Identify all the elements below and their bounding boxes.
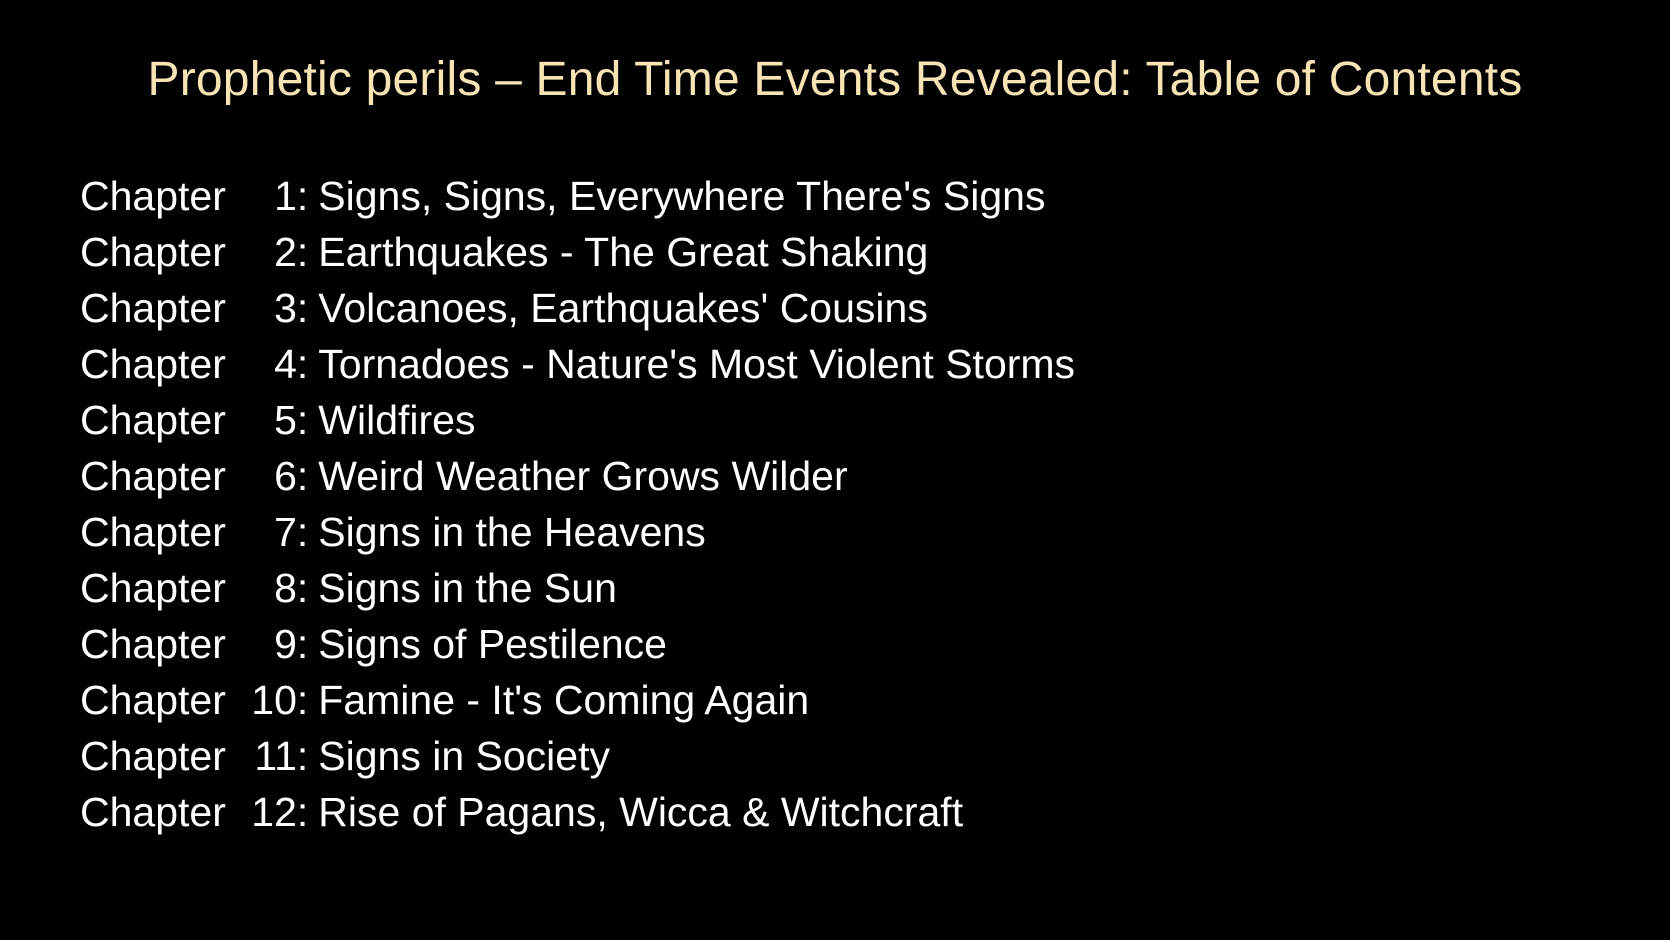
chapter-separator: : [297,504,308,560]
chapter-title: Signs in the Heavens [318,504,705,560]
chapter-number: 8 [235,560,297,616]
chapter-separator: : [297,728,308,784]
list-item: Chapter 10 : Famine - It's Coming Again [80,672,1600,728]
chapter-title: Signs in Society [318,728,610,784]
chapter-separator: : [297,560,308,616]
chapter-separator: : [297,616,308,672]
chapter-number: 7 [235,504,297,560]
chapter-number: 9 [235,616,297,672]
page-title: Prophetic perils – End Time Events Revea… [0,52,1670,107]
chapter-number: 12 [235,784,297,840]
chapter-label: Chapter [80,728,226,784]
chapter-separator: : [297,784,308,840]
list-item: Chapter 11 : Signs in Society [80,728,1600,784]
chapter-separator: : [297,168,308,224]
list-item: Chapter 3 : Volcanoes, Earthquakes' Cous… [80,280,1600,336]
table-of-contents-list: Chapter 1 : Signs, Signs, Everywhere The… [80,168,1600,840]
slide-canvas: Prophetic perils – End Time Events Revea… [0,0,1670,940]
chapter-separator: : [297,672,308,728]
chapter-number: 11 [235,728,297,784]
chapter-label: Chapter [80,224,226,280]
chapter-title: Famine - It's Coming Again [318,672,809,728]
chapter-separator: : [297,392,308,448]
chapter-title: Signs of Pestilence [318,616,667,672]
chapter-label: Chapter [80,392,226,448]
chapter-title: Signs in the Sun [318,560,617,616]
chapter-number: 5 [235,392,297,448]
chapter-label: Chapter [80,336,226,392]
chapter-title: Earthquakes - The Great Shaking [318,224,928,280]
chapter-separator: : [297,336,308,392]
chapter-label: Chapter [80,448,226,504]
chapter-number: 6 [235,448,297,504]
list-item: Chapter 6 : Weird Weather Grows Wilder [80,448,1600,504]
list-item: Chapter 8 : Signs in the Sun [80,560,1600,616]
chapter-separator: : [297,280,308,336]
list-item: Chapter 9 : Signs of Pestilence [80,616,1600,672]
list-item: Chapter 2 : Earthquakes - The Great Shak… [80,224,1600,280]
chapter-label: Chapter [80,280,226,336]
chapter-separator: : [297,224,308,280]
chapter-number: 2 [235,224,297,280]
list-item: Chapter 4 : Tornadoes - Nature's Most Vi… [80,336,1600,392]
chapter-title: Wildfires [318,392,475,448]
chapter-number: 10 [235,672,297,728]
chapter-title: Weird Weather Grows Wilder [318,448,847,504]
list-item: Chapter 12 : Rise of Pagans, Wicca & Wit… [80,784,1600,840]
chapter-title: Volcanoes, Earthquakes' Cousins [318,280,928,336]
chapter-label: Chapter [80,616,226,672]
chapter-separator: : [297,448,308,504]
list-item: Chapter 5 : Wildfires [80,392,1600,448]
chapter-label: Chapter [80,784,226,840]
chapter-title: Rise of Pagans, Wicca & Witchcraft [318,784,963,840]
chapter-number: 1 [235,168,297,224]
chapter-label: Chapter [80,168,226,224]
chapter-label: Chapter [80,504,226,560]
chapter-label: Chapter [80,672,226,728]
list-item: Chapter 7 : Signs in the Heavens [80,504,1600,560]
chapter-number: 3 [235,280,297,336]
chapter-title: Tornadoes - Nature's Most Violent Storms [318,336,1075,392]
chapter-label: Chapter [80,560,226,616]
chapter-number: 4 [235,336,297,392]
chapter-title: Signs, Signs, Everywhere There's Signs [318,168,1045,224]
list-item: Chapter 1 : Signs, Signs, Everywhere The… [80,168,1600,224]
